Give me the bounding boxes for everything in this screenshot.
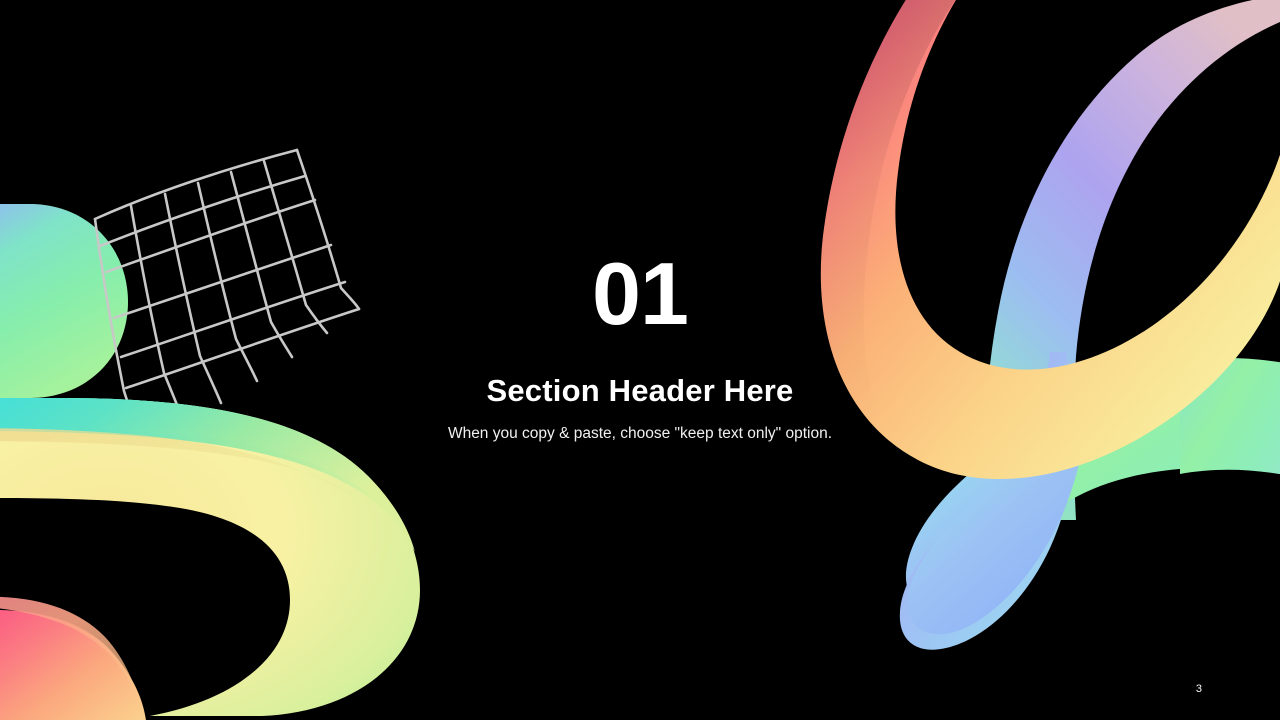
page-title: Section Header Here (0, 338, 1280, 406)
section-subtitle: When you copy & paste, choose "keep text… (0, 406, 1280, 442)
left-ribbon-shadow (0, 428, 400, 536)
section-number: 01 (0, 250, 1280, 338)
page-number: 3 (1196, 684, 1202, 695)
bottom-left-pink-blob-highlight (0, 597, 140, 704)
left-ribbon-swoosh (0, 398, 420, 716)
bottom-left-pink-blob (0, 610, 146, 720)
section-text-block: 01 Section Header Here When you copy & p… (0, 250, 1280, 442)
slide-canvas: 01 Section Header Here When you copy & p… (0, 0, 1280, 720)
